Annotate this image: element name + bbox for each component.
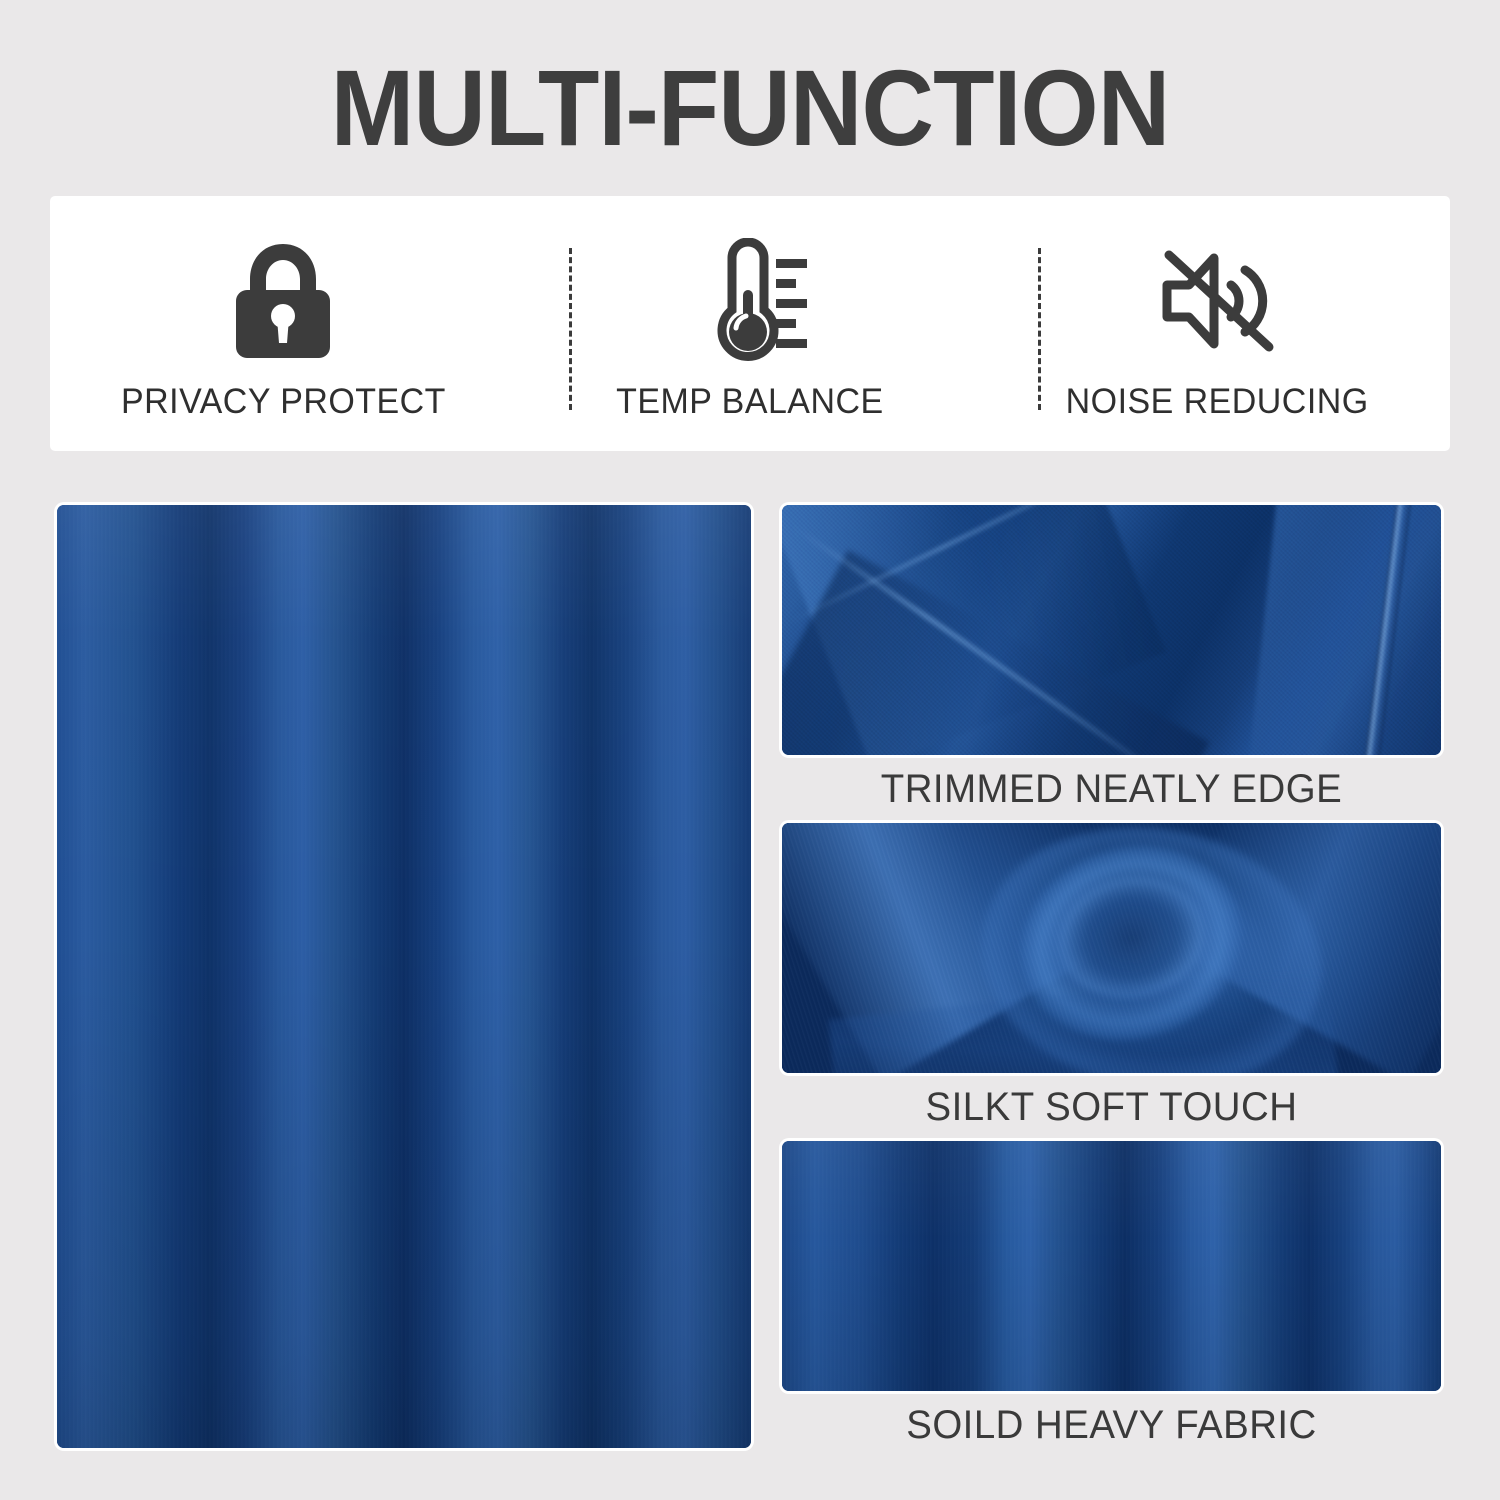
feature-divider (1038, 248, 1041, 410)
detail-image-heavy-fabric[interactable] (782, 1141, 1441, 1391)
feature-label-temp-balance: TEMP BALANCE (616, 382, 883, 422)
detail-caption-heavy-fabric: SOILD HEAVY FABRIC (795, 1401, 1428, 1449)
feature-privacy-protect: PRIVACY PROTECT (50, 196, 517, 451)
detail-caption-silk-touch: SILKT SOFT TOUCH (795, 1083, 1428, 1131)
detail-caption-trimmed-edge: TRIMMED NEATLY EDGE (795, 765, 1428, 813)
feature-noise-reducing: NOISE REDUCING (983, 196, 1450, 451)
detail-image-trimmed-edge[interactable] (782, 505, 1441, 755)
heavy-fabric-texture (782, 1141, 1441, 1391)
thermometer-icon (688, 240, 812, 362)
feature-label-noise-reducing: NOISE REDUCING (1065, 382, 1368, 422)
lock-icon (224, 240, 342, 362)
muted-speaker-icon (1151, 240, 1283, 362)
feature-bar: PRIVACY PROTECT TEMP BALANCE (50, 196, 1450, 451)
feature-label-privacy-protect: PRIVACY PROTECT (121, 382, 446, 422)
feature-divider (569, 248, 572, 410)
silk-sheen-texture (782, 823, 1441, 1073)
feature-temp-balance: TEMP BALANCE (517, 196, 984, 451)
page-title: MULTI-FUNCTION (53, 48, 1448, 168)
curtain-fabric-texture (57, 505, 751, 1448)
detail-image-silk-touch[interactable] (782, 823, 1441, 1073)
fabric-weave-texture (782, 505, 1441, 755)
main-product-image[interactable] (57, 505, 751, 1448)
